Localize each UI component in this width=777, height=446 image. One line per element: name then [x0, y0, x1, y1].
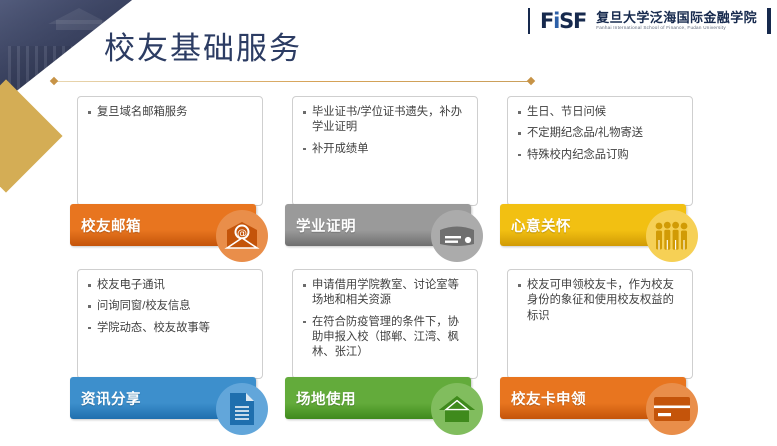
- page-title: 校友基础服务: [104, 33, 302, 64]
- service-card-footer[interactable]: 资讯分享: [70, 377, 256, 419]
- service-card-footer[interactable]: 校友卡申领: [500, 377, 686, 419]
- service-bullet-list: 校友可申领校友卡，作为校友身份的象征和使用校友权益的标识: [516, 278, 685, 324]
- service-card-body: 申请借用学院教室、讨论室等场地和相关资源在符合防疫管理的条件下，协助申报入校（邯…: [292, 269, 478, 379]
- logo-chinese-name: 复旦大学泛海国际金融学院: [596, 11, 757, 25]
- service-card[interactable]: 复旦域名邮箱服务校友邮箱 @: [70, 96, 263, 246]
- people-group-icon: [646, 210, 698, 262]
- house-icon: [431, 383, 483, 435]
- service-card-label: 场地使用: [285, 388, 356, 409]
- service-card[interactable]: 毕业证书/学位证书遗失，补办学业证明补开成绩单学业证明: [285, 96, 478, 246]
- service-card-label: 心意关怀: [500, 215, 571, 236]
- service-card-footer[interactable]: 场地使用: [285, 377, 471, 419]
- service-card-body: 校友电子通讯问询同窗/校友信息学院动态、校友故事等: [77, 269, 263, 379]
- fisf-wordmark: FiSF: [540, 11, 586, 32]
- service-bullet-item: 特殊校内纪念品订购: [516, 148, 685, 163]
- service-bullet-item: 复旦域名邮箱服务: [86, 105, 255, 120]
- service-bullet-list: 校友电子通讯问询同窗/校友信息学院动态、校友故事等: [86, 278, 255, 336]
- service-card-label: 校友卡申领: [500, 388, 586, 409]
- service-bullet-item: 校友电子通讯: [86, 278, 255, 293]
- divider-marker-right: [527, 77, 535, 85]
- credit-card-icon: [646, 383, 698, 435]
- service-bullet-item: 补开成绩单: [301, 142, 470, 157]
- service-bullet-item: 在符合防疫管理的条件下，协助申报入校（邯郸、江湾、枫林、张江）: [301, 315, 470, 361]
- service-card[interactable]: 生日、节日问候不定期纪念品/礼物寄送特殊校内纪念品订购心意关怀: [500, 96, 693, 246]
- service-card-body: 毕业证书/学位证书遗失，补办学业证明补开成绩单: [292, 96, 478, 206]
- title-divider-line: [57, 81, 531, 82]
- service-card-footer[interactable]: 心意关怀: [500, 204, 686, 246]
- service-bullet-list: 申请借用学院教室、讨论室等场地和相关资源在符合防疫管理的条件下，协助申报入校（邯…: [301, 278, 470, 360]
- logo-divider-bar-right: [767, 8, 771, 34]
- document-icon: [216, 383, 268, 435]
- service-card-label: 校友邮箱: [70, 215, 141, 236]
- service-bullet-list: 生日、节日问候不定期纪念品/礼物寄送特殊校内纪念品订购: [516, 105, 685, 163]
- logo-divider-bar-left: [528, 8, 530, 34]
- logo-english-name: Fanhai International School of Finance, …: [596, 26, 757, 31]
- service-card-body: 校友可申领校友卡，作为校友身份的象征和使用校友权益的标识: [507, 269, 693, 379]
- service-card-label: 学业证明: [285, 215, 356, 236]
- service-card[interactable]: 校友电子通讯问询同窗/校友信息学院动态、校友故事等资讯分享: [70, 269, 263, 419]
- service-bullet-item: 生日、节日问候: [516, 105, 685, 120]
- service-card-footer[interactable]: 校友邮箱 @: [70, 204, 256, 246]
- gold-diamond-decoration: [0, 79, 63, 192]
- service-bullet-item: 不定期纪念品/礼物寄送: [516, 126, 685, 141]
- service-bullet-item: 申请借用学院教室、讨论室等场地和相关资源: [301, 278, 470, 309]
- slide-canvas: FiSF 复旦大学泛海国际金融学院 Fanhai International S…: [0, 0, 777, 446]
- service-card-footer[interactable]: 学业证明: [285, 204, 471, 246]
- envelope-at-icon: @: [216, 210, 268, 262]
- service-bullet-list: 毕业证书/学位证书遗失，补办学业证明补开成绩单: [301, 105, 470, 157]
- service-card-label: 资讯分享: [70, 388, 141, 409]
- service-card-body: 生日、节日问候不定期纪念品/礼物寄送特殊校内纪念品订购: [507, 96, 693, 206]
- service-bullet-item: 校友可申领校友卡，作为校友身份的象征和使用校友权益的标识: [516, 278, 685, 324]
- service-card-grid: 复旦域名邮箱服务校友邮箱 @ 毕业证书/学位证书遗失，补办学业证明补开成绩单学业…: [70, 96, 722, 436]
- institution-logo: FiSF 复旦大学泛海国际金融学院 Fanhai International S…: [528, 8, 771, 34]
- service-bullet-list: 复旦域名邮箱服务: [86, 105, 255, 120]
- service-bullet-item: 问询同窗/校友信息: [86, 299, 255, 314]
- service-card-body: 复旦域名邮箱服务: [77, 96, 263, 206]
- divider-marker-left: [50, 77, 58, 85]
- service-bullet-item: 毕业证书/学位证书遗失，补办学业证明: [301, 105, 470, 136]
- service-bullet-item: 学院动态、校友故事等: [86, 321, 255, 336]
- id-card-icon: [431, 210, 483, 262]
- service-card[interactable]: 申请借用学院教室、讨论室等场地和相关资源在符合防疫管理的条件下，协助申报入校（邯…: [285, 269, 478, 419]
- service-card[interactable]: 校友可申领校友卡，作为校友身份的象征和使用校友权益的标识校友卡申领: [500, 269, 693, 419]
